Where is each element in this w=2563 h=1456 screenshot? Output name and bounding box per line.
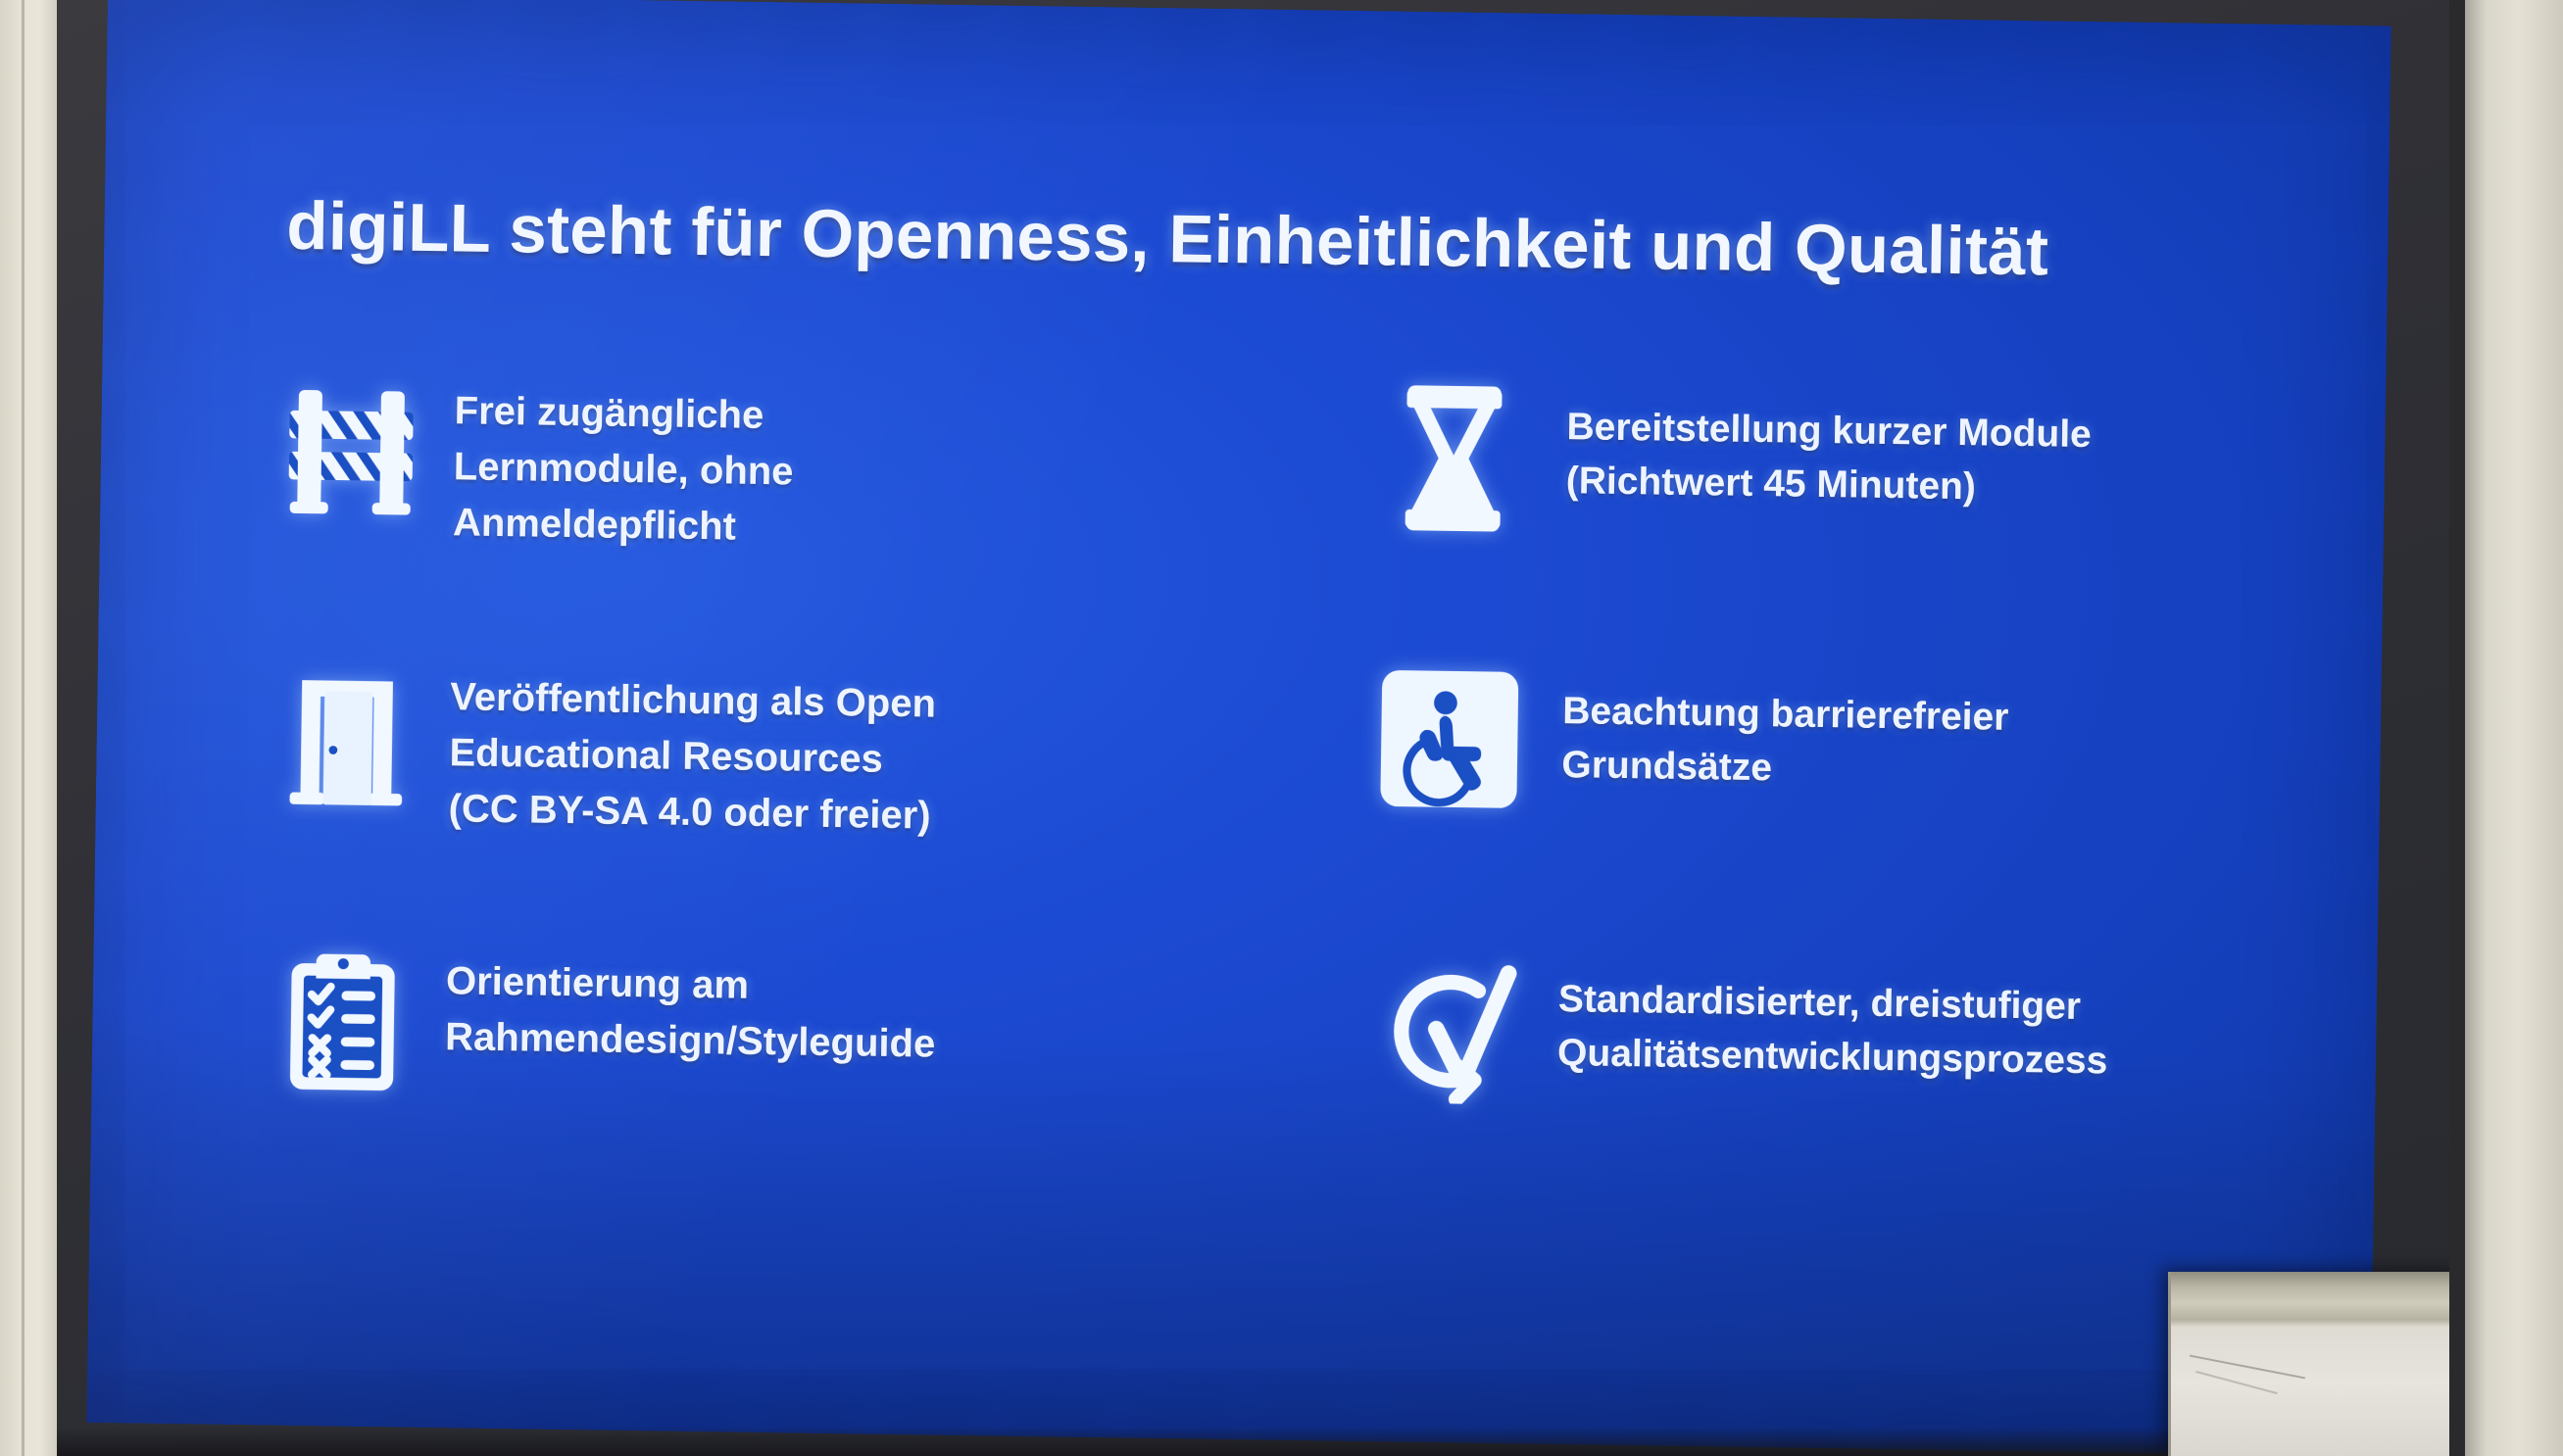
slide-title: digiLL steht für Openness, Einheitlichke…	[286, 189, 2277, 293]
feature-item: Bereitstellung kurzer Module (Richtwert …	[1338, 373, 2317, 651]
flipchart-paper	[2168, 1272, 2465, 1456]
feature-line: Rahmendesign/Styleguide	[445, 1009, 1215, 1076]
open-door-icon	[243, 653, 451, 810]
wall-left	[0, 0, 57, 1456]
feature-item: Orientierung am Rahmendesign/Styleguide	[237, 937, 1216, 1214]
feature-text: Frei zugängliche Lernmodule, ohne Anmeld…	[453, 369, 1225, 561]
feature-text: Standardisierter, dreistufiger Qualitäts…	[1557, 948, 2309, 1092]
wall-gap-right	[2449, 0, 2465, 1456]
feature-text: Veröffentlichung als Open Educational Re…	[448, 655, 1220, 848]
wall-seam	[22, 0, 25, 1456]
feature-column-right: Bereitstellung kurzer Module (Richtwert …	[1330, 373, 2318, 1231]
feature-line: Grundsätze	[1561, 738, 2312, 803]
barrier-icon	[247, 366, 455, 524]
feature-line: (Richtwert 45 Minuten)	[1565, 455, 2316, 520]
feature-line: Qualitätsentwicklungsprozess	[1557, 1026, 2308, 1092]
feature-column-left: Frei zugängliche Lernmodule, ohne Anmeld…	[237, 357, 1225, 1214]
checkmark-cycle-icon	[1331, 946, 1558, 1105]
projected-slide: digiLL steht für Openness, Einheitlichke…	[86, 0, 2390, 1456]
clipboard-checklist-icon	[238, 937, 446, 1099]
feature-text: Beachtung barrierefreier Grundsätze	[1561, 660, 2313, 803]
feature-item: Beachtung barrierefreier Grundsätze	[1334, 657, 2313, 935]
feature-item: Frei zugängliche Lernmodule, ohne Anmeld…	[245, 366, 1224, 644]
wheelchair-accessibility-icon	[1336, 657, 1563, 813]
feature-grid: Frei zugängliche Lernmodule, ohne Anmeld…	[237, 357, 2318, 1230]
screen-bottom-shadow	[57, 1427, 2449, 1456]
hourglass-icon	[1340, 373, 1567, 536]
photo-of-projection-screen: digiLL steht für Openness, Einheitlichke…	[0, 0, 2563, 1456]
feature-text: Bereitstellung kurzer Module (Richtwert …	[1565, 376, 2317, 519]
paper-crease	[2195, 1371, 2278, 1394]
feature-item: Standardisierter, dreistufiger Qualitäts…	[1330, 946, 2309, 1223]
wall-right	[2465, 0, 2563, 1456]
feature-line: Anmeldepflicht	[453, 495, 1223, 561]
feature-text: Orientierung am Rahmendesign/Styleguide	[445, 940, 1216, 1076]
feature-line: (CC BY-SA 4.0 oder freier)	[448, 781, 1218, 848]
feature-item: Veröffentlichung als Open Educational Re…	[241, 653, 1220, 930]
